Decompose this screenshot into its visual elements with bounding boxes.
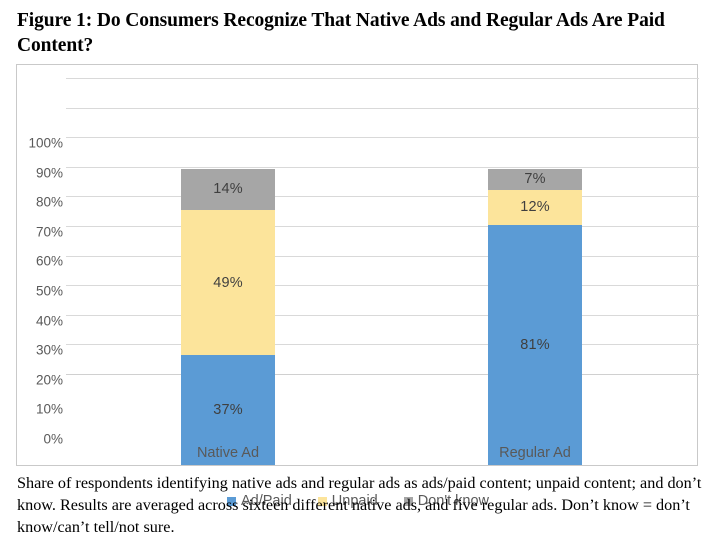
bar-segment-regular-unpaid[interactable]: 12% [488, 190, 582, 226]
bar-data-label-regular-paid: 81% [520, 338, 550, 353]
bar-data-label-native-dk: 14% [213, 182, 243, 197]
bar-segment-regular-paid[interactable]: 81% [488, 225, 582, 465]
gridline-40 [66, 256, 699, 257]
y-axis: 0%10%20%30%40%50%60%70%80%90%100% [17, 143, 63, 439]
bar-data-label-native-paid: 37% [213, 403, 243, 418]
gridline-60 [66, 196, 699, 197]
y-tick-label-50: 50% [19, 284, 63, 299]
gridline-20 [66, 315, 699, 316]
bar-segment-regular-dk[interactable]: 7% [488, 169, 582, 190]
gridline-30 [66, 285, 699, 286]
chart-frame: 0%10%20%30%40%50%60%70%80%90%100% 14%49%… [16, 64, 698, 466]
y-tick-label-100: 100% [19, 136, 63, 151]
x-axis-label-native-ad: Native Ad [148, 445, 308, 461]
y-tick-label-0: 0% [19, 432, 63, 447]
bar-native-ad[interactable]: 14%49%37% [181, 169, 275, 465]
bar-segment-native-unpaid[interactable]: 49% [181, 210, 275, 355]
y-tick-label-10: 10% [19, 402, 63, 417]
y-tick-label-60: 60% [19, 254, 63, 269]
gridline-100 [66, 78, 699, 79]
bar-data-label-regular-dk: 7% [524, 172, 545, 187]
gridline-10 [66, 344, 699, 345]
gridline-80 [66, 137, 699, 138]
x-axis-label-regular-ad: Regular Ad [455, 445, 615, 461]
y-tick-label-90: 90% [19, 165, 63, 180]
y-tick-label-20: 20% [19, 372, 63, 387]
bar-segment-native-dk[interactable]: 14% [181, 169, 275, 210]
bar-data-label-regular-unpaid: 12% [520, 200, 550, 215]
page-title: Figure 1: Do Consumers Recognize That Na… [17, 8, 677, 58]
plot-area [66, 79, 699, 375]
gridline-70 [66, 167, 699, 168]
y-tick-label-70: 70% [19, 224, 63, 239]
gridline-50 [66, 226, 699, 227]
y-tick-label-80: 80% [19, 195, 63, 210]
bar-data-label-native-unpaid: 49% [213, 276, 243, 291]
y-tick-label-30: 30% [19, 343, 63, 358]
bar-regular-ad[interactable]: 7%12%81% [488, 169, 582, 465]
y-tick-label-40: 40% [19, 313, 63, 328]
gridline-90 [66, 108, 699, 109]
figure-caption: Share of respondents identifying native … [17, 472, 707, 538]
gridline-0 [66, 374, 699, 375]
